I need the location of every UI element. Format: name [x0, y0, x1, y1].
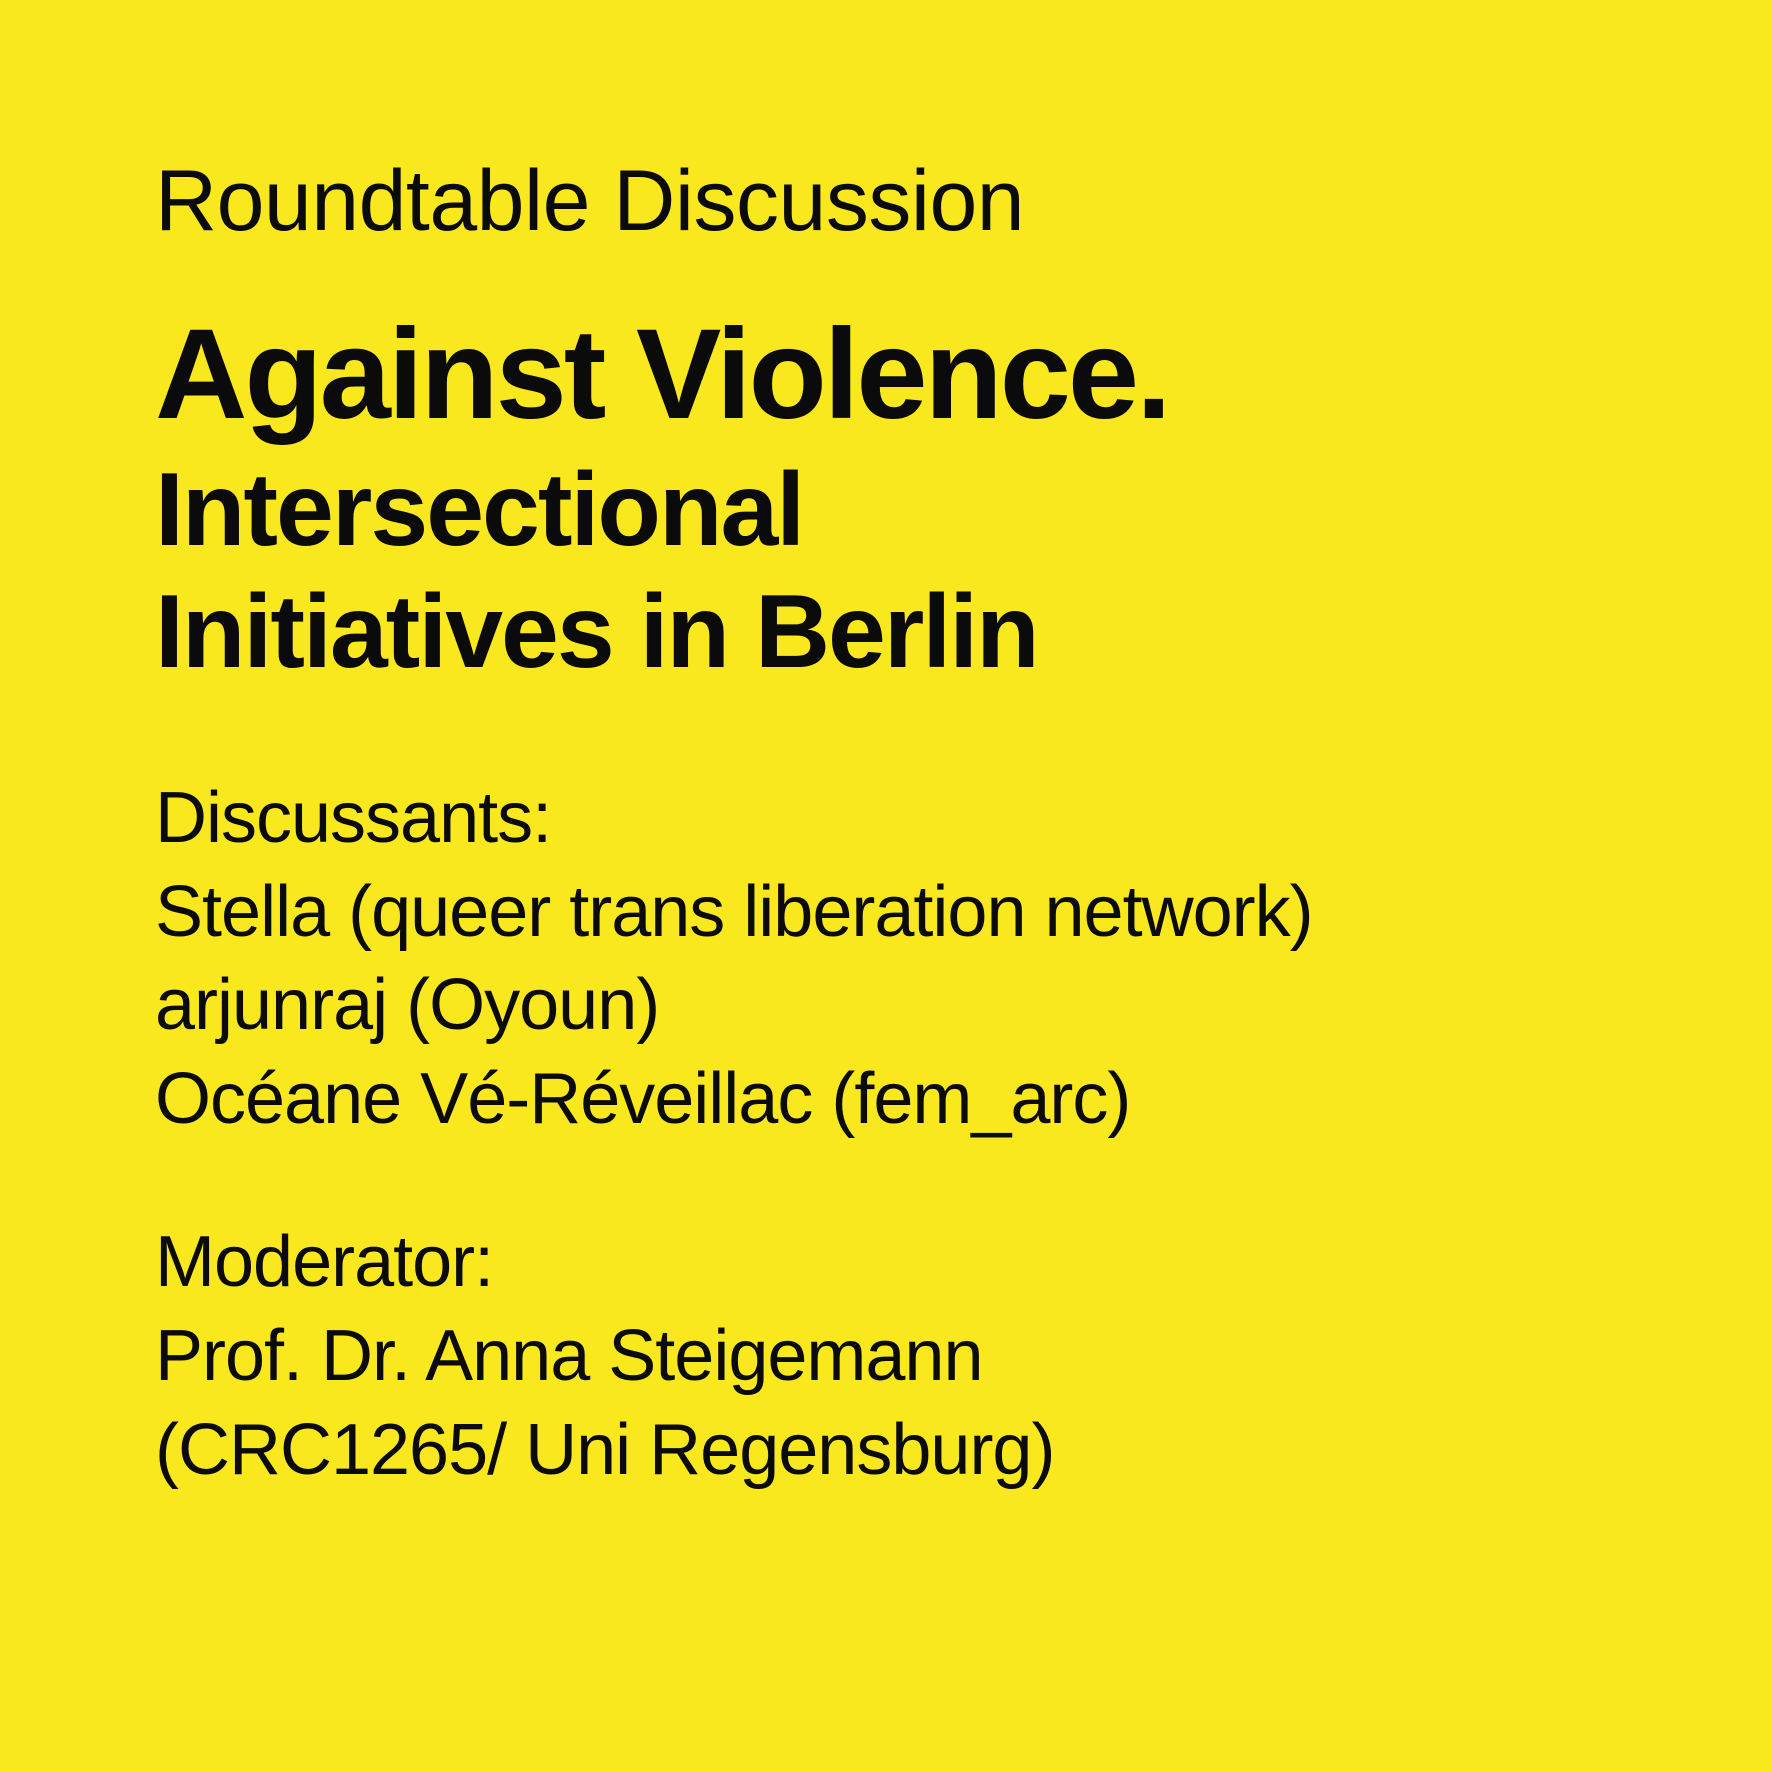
event-poster: Roundtable Discussion Against Violence. … — [0, 0, 1772, 1772]
page-subtitle-line-1: Intersectional — [155, 449, 1622, 572]
title-block: Against Violence. Intersectional Initiat… — [155, 310, 1622, 694]
event-type-kicker: Roundtable Discussion — [155, 150, 1622, 244]
moderator-heading: Moderator: — [155, 1216, 1622, 1310]
moderator-name: Prof. Dr. Anna Steigemann — [155, 1310, 1622, 1404]
credits-section: Discussants: Stella (queer trans liberat… — [155, 772, 1622, 1497]
page-subtitle-line-2: Initiatives in Berlin — [155, 571, 1622, 694]
discussant-name: Stella (queer trans liberation network) — [155, 866, 1622, 960]
discussants-heading: Discussants: — [155, 772, 1622, 866]
page-subtitle: Intersectional Initiatives in Berlin — [155, 441, 1622, 694]
credit-group-discussants: Discussants: Stella (queer trans liberat… — [155, 772, 1622, 1146]
credit-group-moderator: Moderator: Prof. Dr. Anna Steigemann (CR… — [155, 1216, 1622, 1497]
discussant-name: Océane Vé-Réveillac (fem_arc) — [155, 1053, 1622, 1147]
moderator-affiliation: (CRC1265/ Uni Regensburg) — [155, 1404, 1622, 1498]
page-title: Against Violence. — [155, 310, 1622, 441]
discussant-name: arjunraj (Oyoun) — [155, 959, 1622, 1053]
